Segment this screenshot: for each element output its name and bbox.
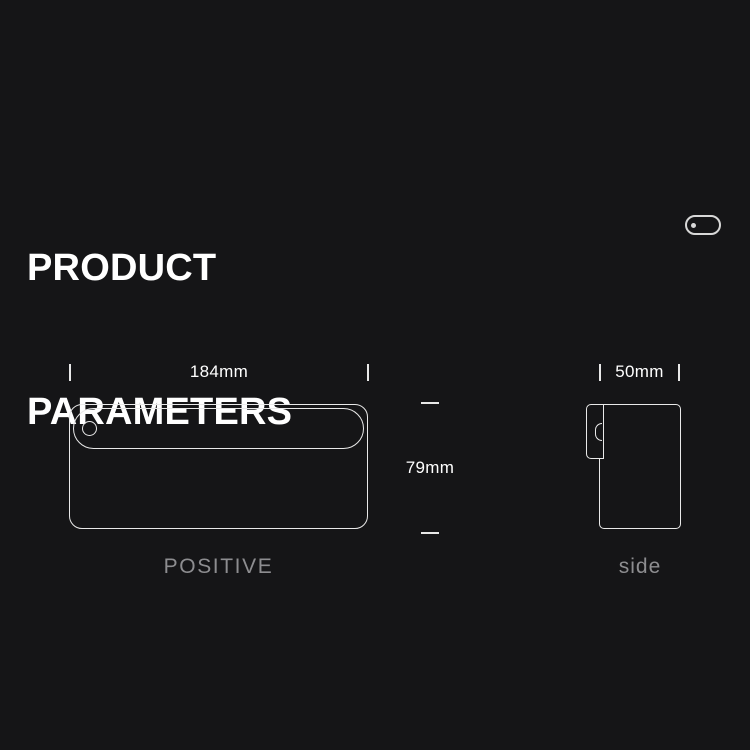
width-dimension: 184mm bbox=[69, 362, 369, 382]
front-view-outline bbox=[69, 404, 368, 529]
side-view-outline bbox=[599, 404, 681, 529]
height-tick-top-icon bbox=[421, 402, 439, 404]
depth-dimension: 50mm bbox=[599, 362, 680, 382]
product-parameters-page: PRODUCT PARAMETERS 184mm 50mm 79mm POSIT… bbox=[0, 0, 750, 750]
front-view-ring-icon bbox=[82, 421, 97, 436]
side-view-bump-icon bbox=[595, 423, 602, 441]
depth-dimension-label: 50mm bbox=[601, 362, 678, 382]
height-tick-bottom-icon bbox=[421, 532, 439, 534]
front-view-top-band bbox=[73, 408, 364, 449]
port-dot-icon bbox=[691, 223, 696, 228]
height-dimension: 79mm bbox=[393, 402, 467, 534]
depth-tick-right-icon bbox=[678, 364, 680, 381]
page-title-line-1: PRODUCT bbox=[27, 244, 292, 292]
front-view-caption: POSITIVE bbox=[69, 555, 368, 579]
port-pill-icon bbox=[685, 215, 721, 235]
height-dimension-label: 79mm bbox=[406, 458, 454, 478]
width-dimension-label: 184mm bbox=[71, 362, 367, 382]
width-tick-right-icon bbox=[367, 364, 369, 381]
side-view-caption: side bbox=[585, 555, 695, 579]
